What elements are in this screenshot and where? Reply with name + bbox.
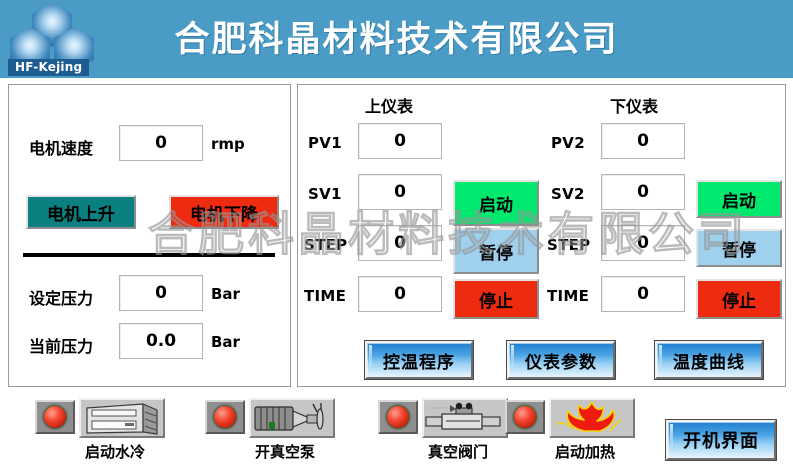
lower-pause-button[interactable]: 暂停: [696, 229, 782, 267]
start-heating-control[interactable]: 启动加热: [505, 398, 665, 474]
pv1-label: PV1: [308, 134, 342, 152]
boot-screen-button[interactable]: 开机界面: [666, 420, 776, 460]
current-pressure-value: 0.0: [119, 323, 203, 359]
set-pressure-label: 设定压力: [29, 285, 93, 309]
start-water-cooling-label: 启动水冷: [35, 441, 195, 462]
set-pressure-unit: Bar: [211, 285, 240, 303]
hmi-screen: HF-Kejing 合肥科晶材料技术有限公司 电机速度 0 rmp 电机上升 电…: [0, 0, 793, 476]
step1-label: STEP: [304, 236, 347, 254]
motor-speed-unit: rmp: [211, 135, 245, 153]
sv1-input[interactable]: 0: [358, 174, 442, 210]
lower-stop-button[interactable]: 停止: [696, 279, 782, 319]
instrument-params-button[interactable]: 仪表参数: [507, 341, 615, 379]
start-vacuum-pump-label: 开真空泵: [205, 441, 365, 462]
motor-up-button[interactable]: 电机上升: [26, 195, 136, 229]
sv1-label: SV1: [308, 185, 342, 203]
chiller-icon[interactable]: [79, 398, 165, 438]
start-vacuum-pump-control[interactable]: 开真空泵: [205, 398, 365, 474]
lower-start-button[interactable]: 启动: [696, 180, 782, 218]
upper-pause-button[interactable]: 暂停: [453, 228, 539, 274]
vacuum-valve-icon[interactable]: [422, 398, 508, 438]
time2-value: 0: [601, 276, 685, 312]
start-water-cooling-control[interactable]: 启动水冷: [35, 398, 195, 474]
app-header: HF-Kejing 合肥科晶材料技术有限公司: [0, 0, 793, 78]
upper-instrument-caption: 上仪表: [365, 93, 413, 117]
temp-curve-button[interactable]: 温度曲线: [655, 341, 763, 379]
sv2-input[interactable]: 0: [601, 174, 685, 210]
flame-icon[interactable]: [549, 398, 635, 438]
motor-pressure-panel: 电机速度 0 rmp 电机上升 电机下降 设定压力 0 Bar 当前压力 0.0…: [8, 84, 291, 387]
sv2-label: SV2: [551, 185, 585, 203]
time1-value: 0: [358, 276, 442, 312]
step1-value: 0: [358, 225, 442, 261]
temp-program-button[interactable]: 控温程序: [365, 341, 473, 379]
upper-stop-button[interactable]: 停止: [453, 279, 539, 319]
motor-down-button[interactable]: 电机下降: [169, 195, 279, 229]
motor-speed-input[interactable]: 0: [119, 125, 203, 161]
vacuum-pump-lamp-icon: [205, 400, 245, 434]
instrument-panel: 上仪表 PV1 0 SV1 0 STEP 0 TIME 0 启动 暂停 停止 下…: [297, 84, 786, 387]
lower-instrument-caption: 下仪表: [610, 93, 658, 117]
current-pressure-unit: Bar: [211, 333, 240, 351]
pv2-value: 0: [601, 123, 685, 159]
panel-divider: [23, 253, 275, 257]
heating-lamp-icon: [505, 400, 545, 434]
set-pressure-input[interactable]: 0: [119, 275, 203, 311]
pv1-value: 0: [358, 123, 442, 159]
vacuum-pump-icon[interactable]: [249, 398, 335, 438]
water-cooling-lamp-icon: [35, 400, 75, 434]
motor-speed-label: 电机速度: [29, 135, 93, 159]
time1-label: TIME: [304, 287, 346, 305]
step2-label: STEP: [547, 236, 590, 254]
vacuum-valve-lamp-icon: [378, 400, 418, 434]
page-title: 合肥科晶材料技术有限公司: [0, 11, 793, 62]
current-pressure-label: 当前压力: [29, 333, 93, 357]
time2-label: TIME: [547, 287, 589, 305]
upper-start-button[interactable]: 启动: [453, 180, 539, 226]
step2-value: 0: [601, 225, 685, 261]
pv2-label: PV2: [551, 134, 585, 152]
start-heating-label: 启动加热: [505, 441, 665, 462]
